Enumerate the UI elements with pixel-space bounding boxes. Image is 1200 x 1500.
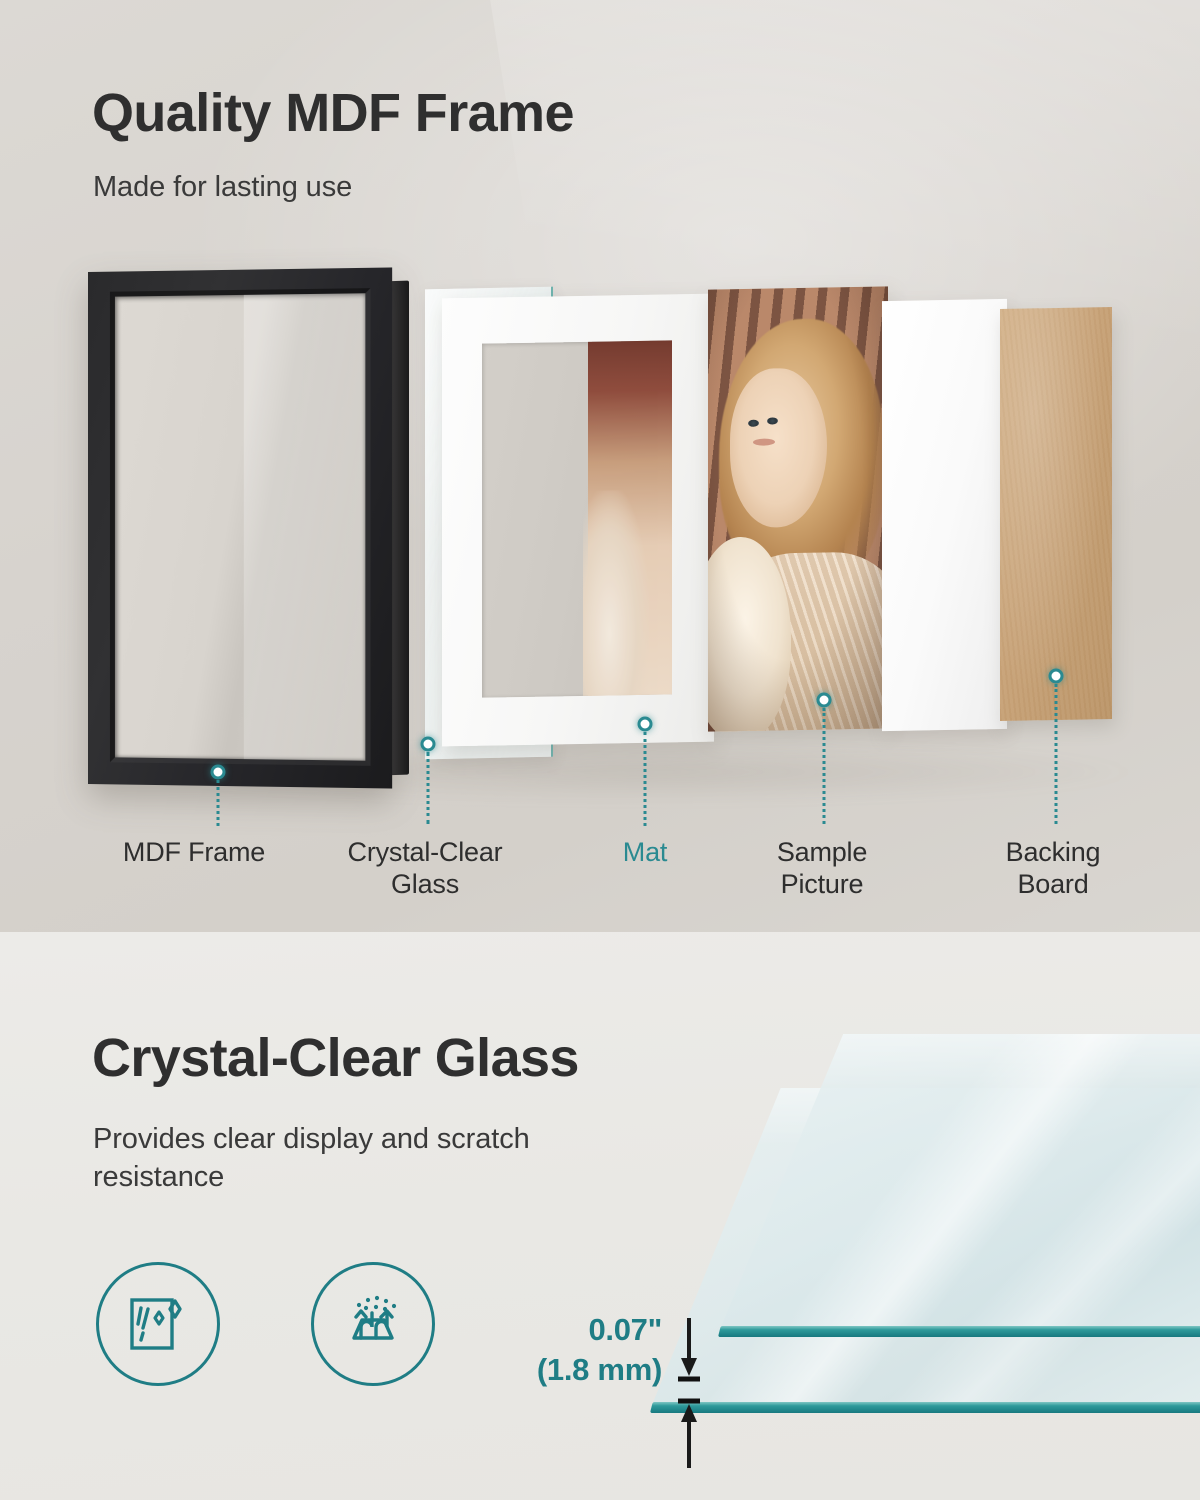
glass-pane-upper-reflection [718,1034,1200,1334]
glass-thickness-callout: 0.07" (1.8 mm) [492,1310,662,1391]
thickness-dimension-arrows [676,1318,702,1468]
mat-window-opening [482,340,672,697]
callout-marker-glass[interactable] [421,737,436,752]
picture-vignette [708,286,888,731]
callout-marker-backing-board[interactable] [1049,669,1064,684]
scratch-resistance-feature-badge [311,1262,435,1386]
callout-marker-sample-picture[interactable] [817,693,832,708]
mdf-frame-layer [88,272,408,784]
callout-marker-mdf-frame[interactable] [211,765,226,780]
frame-inner-lip [110,288,371,766]
callout-leader-mdf-frame [217,780,220,826]
callout-leader-mat [644,732,647,826]
callout-marker-mat[interactable] [638,717,653,732]
mat-photo-peek [588,340,672,695]
mdf-frame-section: Quality MDF Frame Made for lasting use [0,0,1200,932]
glass-pane-upper-edge [718,1326,1200,1337]
backing-board-layer [1000,307,1112,721]
callout-label-sample-picture: Sample Picture [777,836,867,901]
glass-pane-upper [718,1034,1200,1334]
glass-section-title: Crystal-Clear Glass [92,1027,579,1089]
thickness-imperial: 0.07" [492,1310,662,1350]
sparkling-glass-panel-icon [121,1287,195,1361]
glass-pane-lower-edge [650,1402,1200,1413]
clarity-feature-badge [96,1262,220,1386]
glass-section-subtitle: Provides clear display and scratch resis… [93,1120,613,1197]
callout-leader-backing-board [1055,684,1058,824]
callout-leader-sample-picture [823,708,826,824]
glass-panes-illustration [640,1000,1200,1480]
product-infographic: Quality MDF Frame Made for lasting use [0,0,1200,1500]
callout-label-mdf-frame: MDF Frame [123,836,265,868]
frame-face [88,267,392,788]
mat-layer [442,294,714,747]
scratch-resistant-surface-icon [334,1289,412,1359]
sample-picture-layer [708,286,888,731]
exploded-frame-stack [0,0,1200,932]
callout-label-mat: Mat [623,836,667,868]
callout-label-backing-board: Backing Board [1006,836,1101,901]
callout-label-crystal-clear-glass: Crystal-Clear Glass [348,836,503,901]
white-board-layer [882,299,1007,731]
callout-leader-glass [427,752,430,824]
thickness-metric: (1.8 mm) [492,1350,662,1390]
